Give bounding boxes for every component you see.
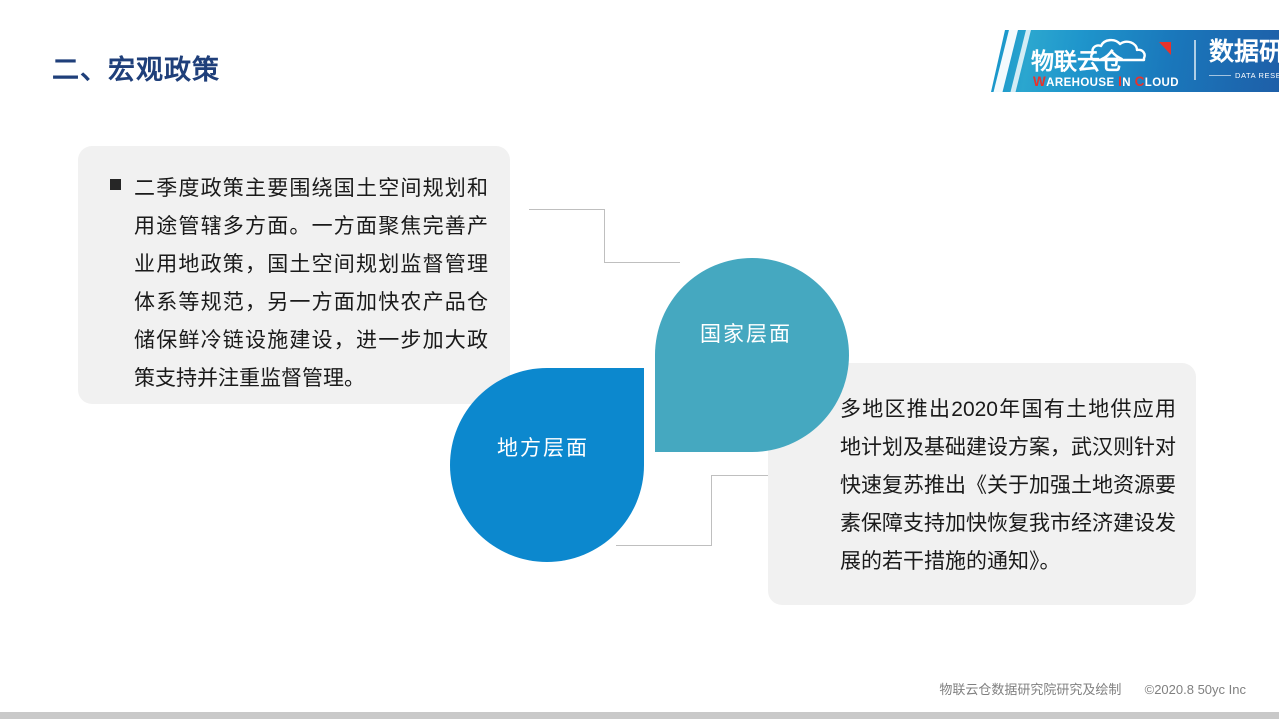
footer-copyright: ©2020.8 50yc Inc: [1145, 682, 1246, 697]
connector-bottom-segment-2: [711, 475, 712, 546]
footer-credit: 物联云仓数据研究院研究及绘制 ©2020.8 50yc Inc: [939, 679, 1246, 698]
logo-divider: [1194, 40, 1196, 80]
national-panel: 二季度政策主要围绕国土空间规划和用途管辖多方面。一方面聚焦完善产业用地政策，国土…: [78, 146, 510, 404]
node-local[interactable]: 地方层面: [450, 368, 644, 562]
connector-bottom-segment-1: [616, 545, 712, 546]
connector-top-segment-2: [604, 209, 605, 262]
local-panel-text: 多地区推出2020年国有土地供应用地计划及基础建设方案，武汉则针对快速复苏推出《…: [840, 391, 1176, 581]
connector-top-segment-3: [604, 262, 680, 263]
national-panel-bullet-row: 二季度政策主要围绕国土空间规划和用途管辖多方面。一方面聚焦完善产业用地政策，国土…: [110, 170, 488, 398]
bottom-bar: [0, 712, 1279, 719]
logo-rule-left: [1209, 75, 1231, 76]
slide-canvas: 二、宏观政策 物联云仓 WAREHOUSE IN CLOUD 数据研究院 DAT…: [0, 0, 1279, 719]
logo-institute-cn: 数据研究院: [1209, 38, 1279, 66]
logo-institute-en: DATA RESEARCH: [1231, 71, 1279, 80]
logo-institute-en-wrap: DATA RESEARCH: [1209, 71, 1279, 80]
brand-logo: 物联云仓 WAREHOUSE IN CLOUD 数据研究院 DATA RESEA…: [991, 30, 1279, 92]
page-title: 二、宏观政策: [52, 48, 220, 87]
logo-brand-group: 物联云仓 WAREHOUSE IN CLOUD: [1031, 36, 1186, 88]
node-national[interactable]: 国家层面: [655, 258, 849, 452]
bullet-square-icon: [110, 179, 121, 190]
logo-brand-en: WAREHOUSE IN CLOUD: [1033, 74, 1179, 89]
node-national-label: 国家层面: [700, 318, 792, 348]
footer-credit-text: 物联云仓数据研究院研究及绘制: [939, 682, 1121, 697]
logo-brand-cn: 物联云仓: [1031, 49, 1123, 74]
node-local-label: 地方层面: [497, 432, 589, 462]
connector-top-segment-1: [529, 209, 605, 210]
national-panel-text: 二季度政策主要围绕国土空间规划和用途管辖多方面。一方面聚焦完善产业用地政策，国土…: [134, 170, 488, 398]
local-panel-bullet-row: 多地区推出2020年国有土地供应用地计划及基础建设方案，武汉则针对快速复苏推出《…: [816, 391, 1176, 581]
logo-institute-group: 数据研究院 DATA RESEARCH: [1209, 38, 1279, 80]
